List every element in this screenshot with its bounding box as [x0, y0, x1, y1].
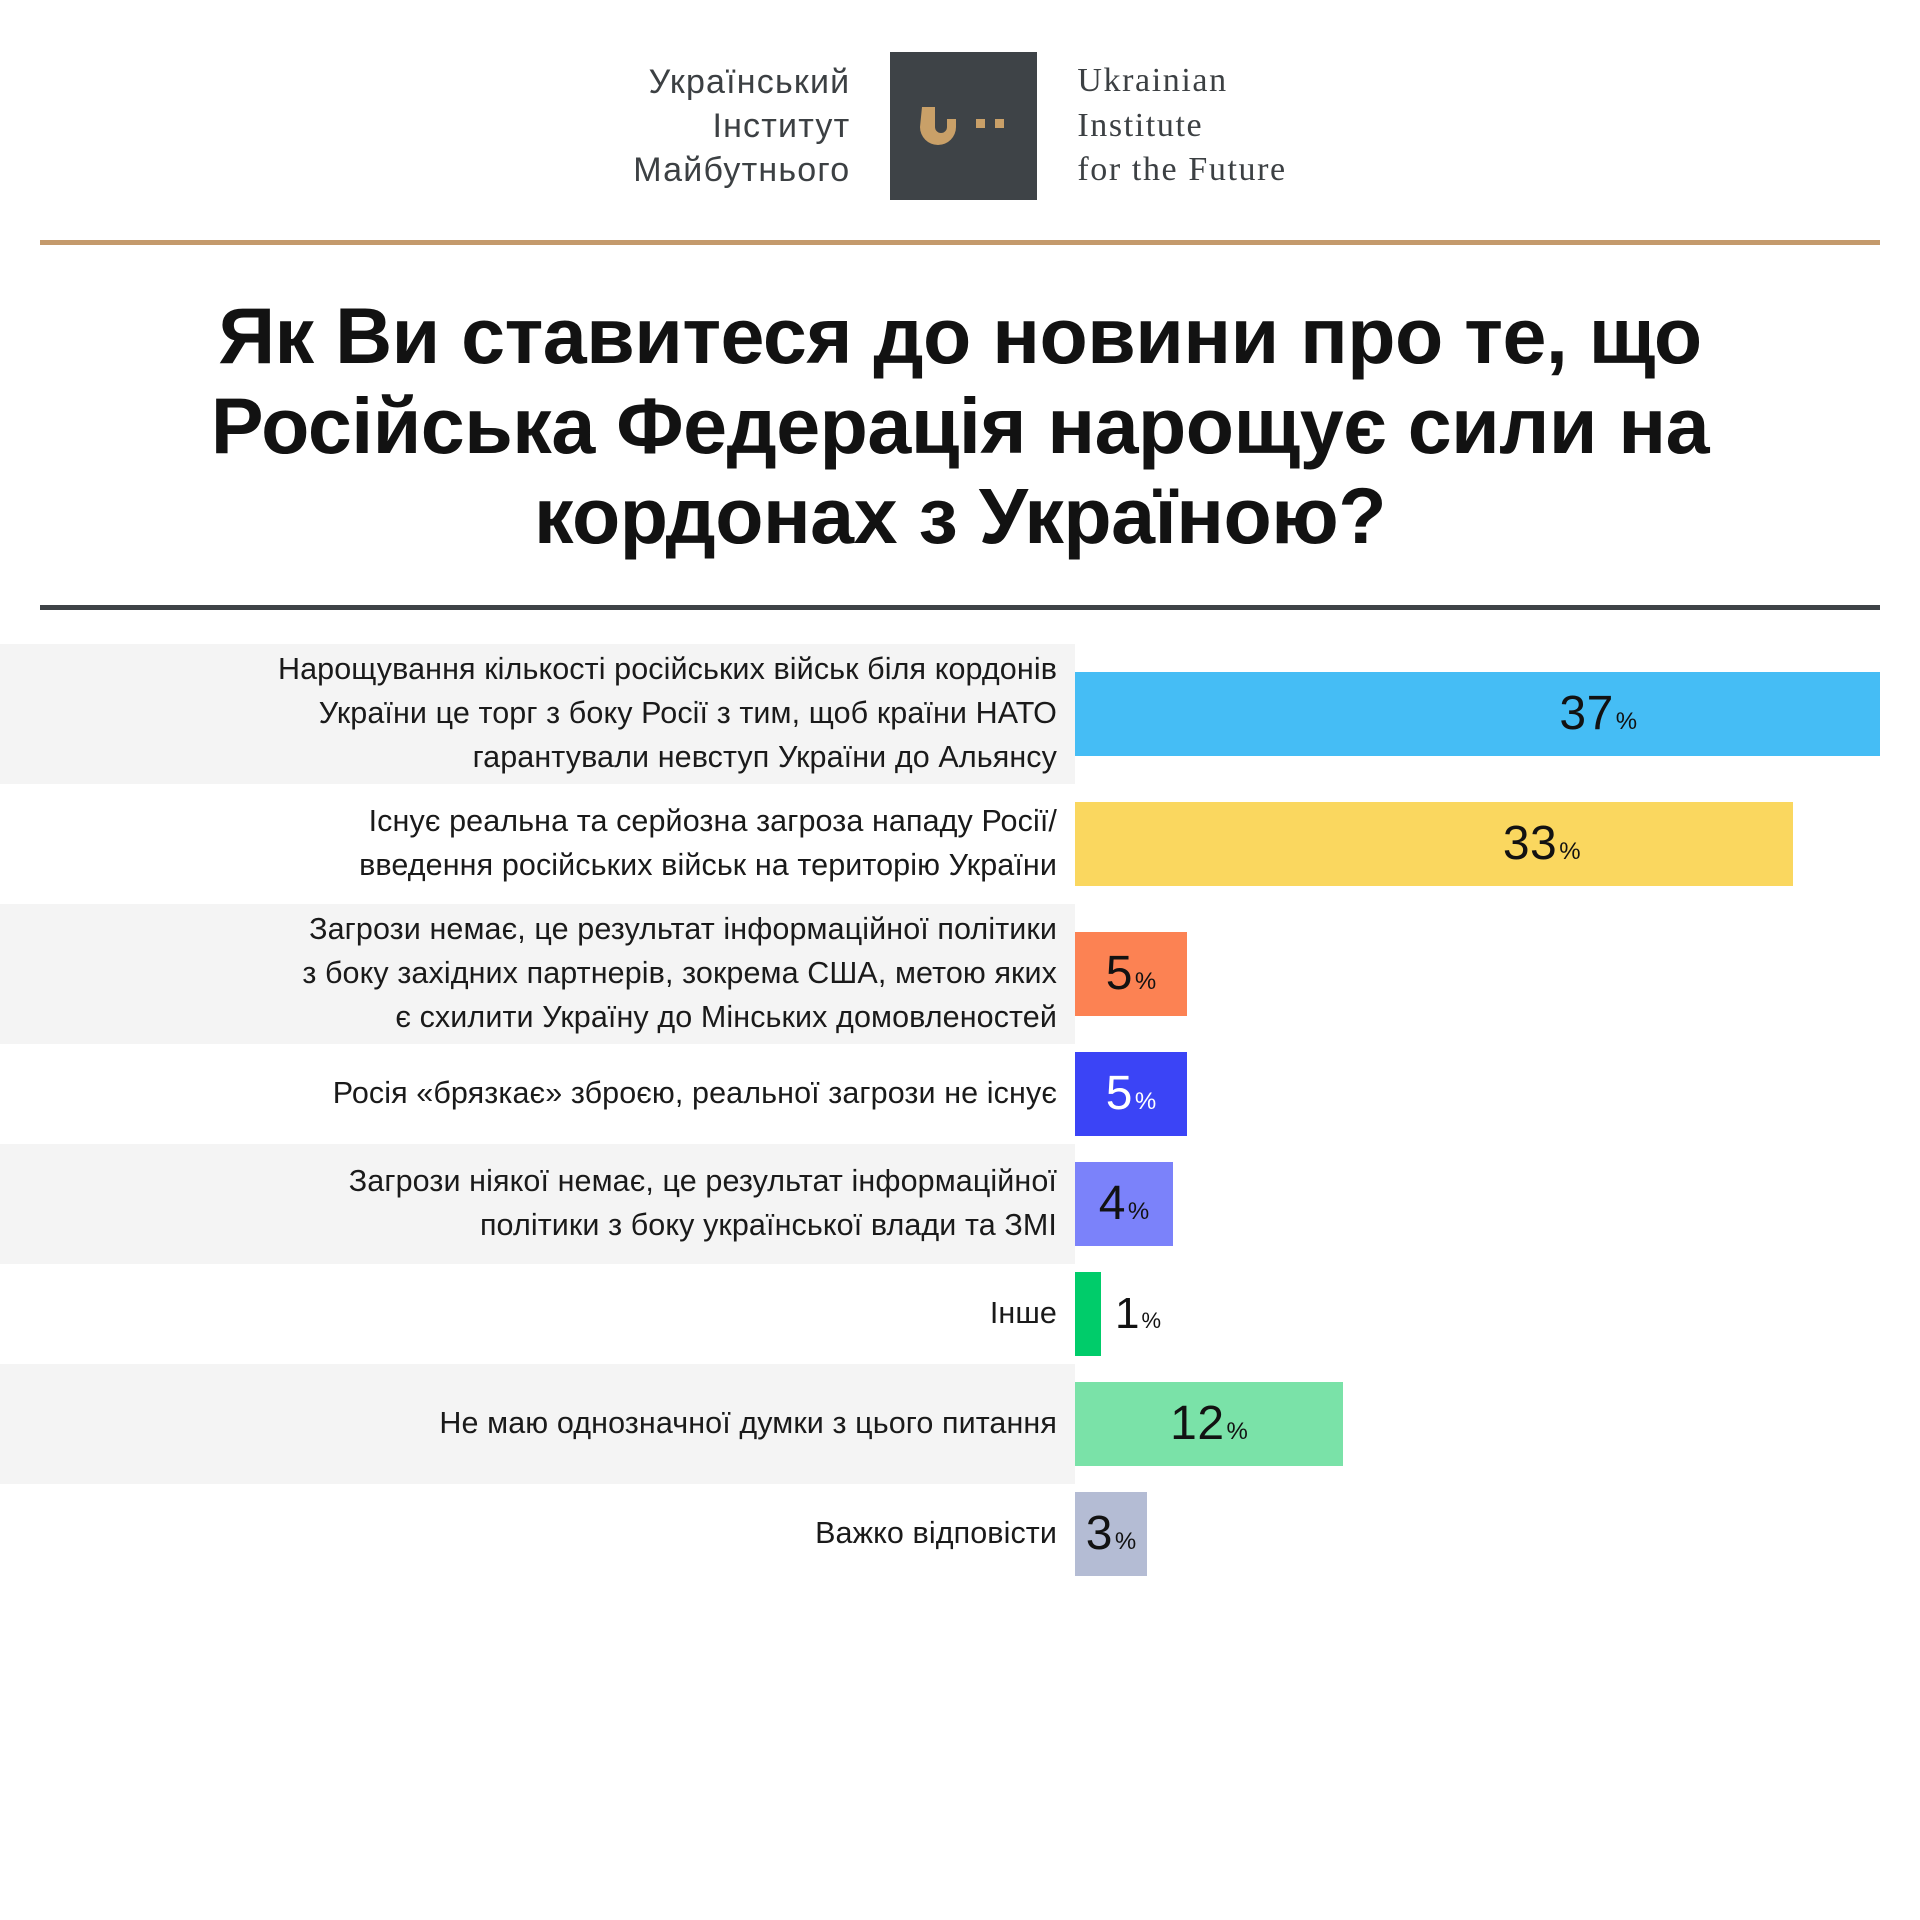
bar[interactable]: 3% — [1075, 1492, 1147, 1576]
chart-row-label: Нарощування кількості російських військ … — [278, 648, 1057, 780]
label-line: Росія «брязкає» зброєю, реальної загрози… — [333, 1072, 1057, 1116]
chart-row: Загрози ніякої немає, це результат інфор… — [0, 1144, 1920, 1264]
percent-sign: % — [1135, 1090, 1156, 1114]
chart-row: Загрози немає, це результат інформаційно… — [0, 904, 1920, 1044]
label-line: Інше — [990, 1292, 1057, 1336]
chart-row-bar-cell: 1% — [1075, 1264, 1920, 1364]
chart-row-bar-cell: 5% — [1075, 1044, 1920, 1144]
bar-chart: Нарощування кількості російських військ … — [0, 644, 1920, 1584]
chart-row-label-cell: Росія «брязкає» зброєю, реальної загрози… — [0, 1044, 1075, 1144]
bar-value-label: 37% — [1559, 690, 1637, 738]
bar-value-label: 5% — [1106, 950, 1157, 998]
bar[interactable] — [1075, 1272, 1101, 1356]
label-line: з боку західних партнерів, зокрема США, … — [302, 952, 1057, 996]
label-line: введення російських військ на територію … — [359, 844, 1057, 888]
bar-value-number: 1 — [1115, 1292, 1139, 1336]
label-line: Існує реальна та серйозна загроза нападу… — [359, 800, 1057, 844]
page-title: Як Ви ставитеся до новини про те, що Рос… — [52, 291, 1868, 561]
bar[interactable]: 4% — [1075, 1162, 1173, 1246]
label-line: гарантували невступ України до Альянсу — [278, 736, 1057, 780]
chart-row-bar-cell: 37% — [1075, 644, 1920, 784]
dark-divider — [40, 605, 1880, 610]
brand-en-line-3: for the Future — [1077, 148, 1286, 193]
brand-header: Український Інститут Майбутнього Ukraini… — [0, 0, 1920, 200]
bar-value-number: 5 — [1106, 1070, 1133, 1118]
percent-sign: % — [1616, 710, 1637, 734]
chart-row-bar-cell: 3% — [1075, 1484, 1920, 1584]
brand-en-line-1: Ukrainian — [1077, 59, 1286, 104]
chart-row-label: Важко відповісти — [815, 1512, 1057, 1556]
bar-value-label: 33% — [1503, 820, 1581, 868]
label-line: є схилити Україну до Мінських домовленос… — [302, 996, 1057, 1040]
chart-row-bar-cell: 33% — [1075, 784, 1920, 904]
chart-row: Не маю однозначної думки з цього питання… — [0, 1364, 1920, 1484]
label-line: Загрози немає, це результат інформаційно… — [302, 908, 1057, 952]
chart-row: Існує реальна та серйозна загроза нападу… — [0, 784, 1920, 904]
brand-ua-line-2: Інститут — [633, 104, 850, 148]
brand-en-line-2: Institute — [1077, 104, 1286, 149]
gold-divider — [40, 240, 1880, 245]
label-line: Не маю однозначної думки з цього питання — [439, 1402, 1057, 1446]
chart-row: Нарощування кількості російських військ … — [0, 644, 1920, 784]
bar-value-number: 4 — [1099, 1180, 1126, 1228]
chart-row-label: Не маю однозначної думки з цього питання — [439, 1402, 1057, 1446]
label-line: Загрози ніякої немає, це результат інфор… — [349, 1160, 1057, 1204]
bar-value-number: 3 — [1086, 1510, 1113, 1558]
label-line: політики з боку української влади та ЗМІ — [349, 1204, 1057, 1248]
bar-value-label: 3% — [1086, 1510, 1137, 1558]
bar-value-label: 1% — [1115, 1292, 1161, 1336]
chart-row-label: Інше — [990, 1292, 1057, 1336]
percent-sign: % — [1559, 840, 1580, 864]
key-icon — [890, 52, 1037, 200]
brand-ua-line-3: Майбутнього — [633, 148, 850, 192]
label-line: України це торг з боку Росії з тим, щоб … — [278, 692, 1057, 736]
bar-value-number: 37 — [1559, 690, 1613, 738]
brand-name-english: Ukrainian Institute for the Future — [1037, 59, 1286, 194]
chart-row: Важко відповісти3% — [0, 1484, 1920, 1584]
bar[interactable]: 37% — [1075, 672, 1880, 756]
chart-row-label: Росія «брязкає» зброєю, реальної загрози… — [333, 1072, 1057, 1116]
bar[interactable]: 5% — [1075, 932, 1187, 1016]
chart-row-label-cell: Нарощування кількості російських військ … — [0, 644, 1075, 784]
chart-row-label: Загрози немає, це результат інформаційно… — [302, 908, 1057, 1040]
bar[interactable]: 5% — [1075, 1052, 1187, 1136]
chart-row-bar-cell: 12% — [1075, 1364, 1920, 1484]
bar[interactable]: 12% — [1075, 1382, 1343, 1466]
bar-value-number: 33 — [1503, 820, 1557, 868]
brand-ua-line-1: Український — [633, 60, 850, 104]
bar-value-label: 5% — [1106, 1070, 1157, 1118]
chart-row: Інше1% — [0, 1264, 1920, 1364]
percent-sign: % — [1115, 1530, 1136, 1554]
chart-row-label-cell: Загрози ніякої немає, це результат інфор… — [0, 1144, 1075, 1264]
label-line: Важко відповісти — [815, 1512, 1057, 1556]
chart-row-label: Існує реальна та серйозна загроза нападу… — [359, 800, 1057, 888]
chart-row: Росія «брязкає» зброєю, реальної загрози… — [0, 1044, 1920, 1144]
chart-row-label: Загрози ніякої немає, це результат інфор… — [349, 1160, 1057, 1248]
brand-name-ukrainian: Український Інститут Майбутнього — [633, 60, 890, 193]
bar-value-label: 4% — [1099, 1180, 1150, 1228]
chart-row-label-cell: Існує реальна та серйозна загроза нападу… — [0, 784, 1075, 904]
bar-value-number: 5 — [1106, 950, 1133, 998]
percent-sign: % — [1135, 970, 1156, 994]
infographic-page: Український Інститут Майбутнього Ukraini… — [0, 0, 1920, 1920]
chart-row-label-cell: Важко відповісти — [0, 1484, 1075, 1584]
percent-sign: % — [1128, 1200, 1149, 1224]
chart-row-bar-cell: 4% — [1075, 1144, 1920, 1264]
label-line: Нарощування кількості російських військ … — [278, 648, 1057, 692]
chart-row-label-cell: Не маю однозначної думки з цього питання — [0, 1364, 1075, 1484]
percent-sign: % — [1141, 1310, 1161, 1332]
bar-value-label: 12% — [1170, 1400, 1248, 1448]
bar-value-number: 12 — [1170, 1400, 1224, 1448]
chart-row-label-cell: Інше — [0, 1264, 1075, 1364]
chart-row-label-cell: Загрози немає, це результат інформаційно… — [0, 904, 1075, 1044]
bar[interactable]: 33% — [1075, 802, 1793, 886]
chart-row-bar-cell: 5% — [1075, 904, 1920, 1044]
percent-sign: % — [1227, 1420, 1248, 1444]
